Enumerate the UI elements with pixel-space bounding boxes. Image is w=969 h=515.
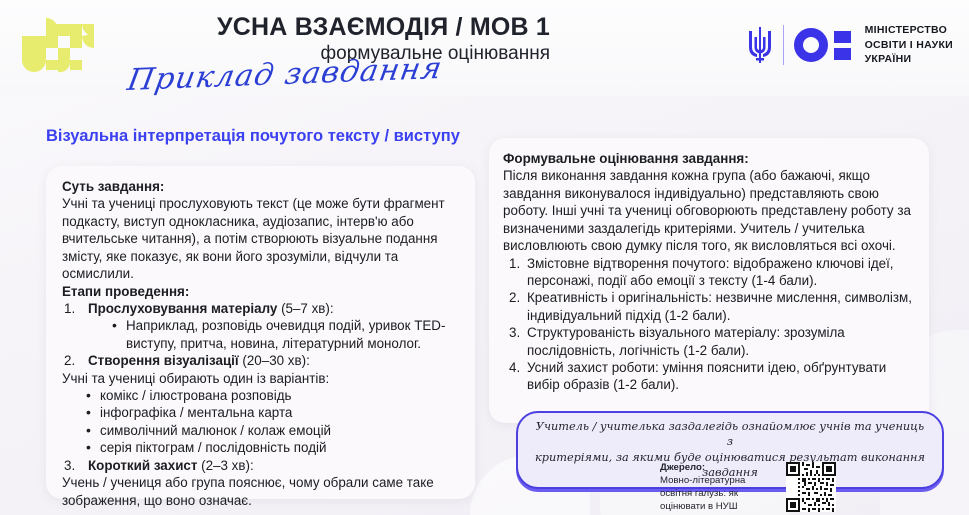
task-description-text: Суть завдання: Учні та учениці прослухов… [62, 178, 459, 509]
slide-header: УСНА ВЗАЄМОДІЯ / МОВ 1 формувальне оціню… [0, 0, 969, 96]
mon-ring-shape [794, 28, 828, 62]
ministry-line-3: УКРАЇНИ [865, 53, 912, 65]
callout-line-1: Учитель / учителька заздалегідь ознайомл… [536, 420, 924, 448]
stage-2-duration: (20–30 хв): [239, 353, 310, 368]
assessment-body: Після виконання завдання кожна група (аб… [503, 167, 915, 254]
essence-body: Учні та учениці прослуховують текст (це … [62, 195, 459, 282]
essence-heading: Суть завдання: [62, 178, 459, 195]
source-label: Джерело: [660, 462, 770, 475]
criteria-2-text: Креативність і оригінальність: незвичне … [527, 290, 912, 322]
slide-root: УСНА ВЗАЄМОДІЯ / МОВ 1 формувальне оціню… [0, 0, 969, 515]
criteria-item-4: 4. Усний захист роботи: уміння пояснити … [503, 359, 915, 394]
stage-2-intro: Учні та учениці обирають один із варіант… [62, 370, 459, 387]
list-item: Наприклад, розповідь очевидця подій, ури… [88, 317, 459, 352]
stage-1-marker: 1. [64, 300, 84, 317]
source-line-2: освітня галузь: як [660, 488, 738, 499]
list-item: інфографіка / ментальна карта [62, 404, 459, 421]
list-item: символічний малюнок / колаж емоцій [62, 422, 459, 439]
stage-3-duration: (2–3 хв): [197, 458, 253, 473]
stages-list: 1. Прослуховування матеріалу (5–7 хв): Н… [62, 300, 459, 370]
trident-icon [747, 25, 773, 65]
ministry-line-1: МІНІСТЕРСТВО [865, 24, 947, 36]
criteria-1-marker: 1. [509, 255, 520, 272]
criteria-item-1: 1. Змістовне відтворення почутого: відоб… [503, 255, 915, 290]
logo-divider [783, 25, 784, 65]
stage-3-body: Учень / учениця або група пояснює, чому … [62, 474, 459, 509]
ministry-logo: МІНІСТЕРСТВО ОСВІТИ І НАУКИ УКРАЇНИ [747, 16, 953, 74]
criteria-item-2: 2. Креативність і оригінальність: незвич… [503, 289, 915, 324]
assessment-card: Формувальне оцінювання завдання: Після в… [489, 138, 929, 423]
stage-1-duration: (5–7 хв): [277, 301, 333, 316]
list-item: комікс / ілюстрована розповідь [62, 387, 459, 404]
criteria-2-marker: 2. [509, 289, 520, 306]
qr-code[interactable] [786, 462, 836, 512]
dnipro-edu-logo [16, 16, 108, 74]
source-block: Джерело: Мовно-літературна освітня галуз… [660, 462, 836, 513]
stage-3-title: Короткий захист [88, 458, 197, 473]
ministry-line-2: ОСВІТИ І НАУКИ [865, 39, 953, 51]
task-description-card: Суть завдання: Учні та учениці прослухов… [46, 166, 475, 499]
stage-item-1: 1. Прослуховування матеріалу (5–7 хв): Н… [62, 300, 459, 352]
assessment-text: Формувальне оцінювання завдання: Після в… [503, 150, 915, 394]
section-title: Візуальна інтерпретація почутого тексту … [46, 127, 460, 146]
stage-2-options-list: комікс / ілюстрована розповідь інфографі… [62, 387, 459, 457]
criteria-4-text: Усний захист роботи: уміння пояснити іде… [527, 360, 886, 392]
source-text: Джерело: Мовно-літературна освітня галуз… [660, 462, 770, 513]
stage-item-2: 2. Створення візуалізації (20–30 хв): [62, 352, 459, 369]
criteria-1-text: Змістовне відтворення почутого: відображ… [527, 256, 894, 288]
assessment-heading: Формувальне оцінювання завдання: [503, 150, 915, 167]
source-line-3: оцінювати в НУШ [660, 501, 738, 512]
criteria-item-3: 3. Структурованість візуального матеріал… [503, 324, 915, 359]
stage-1-title: Прослуховування матеріалу [88, 301, 277, 316]
mon-emblem-icon [794, 28, 851, 62]
criteria-list: 1. Змістовне відтворення почутого: відоб… [503, 255, 915, 394]
stage-3-list: 3. Короткий захист (2–3 хв): [62, 457, 459, 474]
criteria-3-marker: 3. [509, 324, 520, 341]
stage-3-marker: 3. [64, 457, 84, 474]
criteria-3-text: Структурованість візуального матеріалу: … [527, 325, 845, 357]
page-title: УСНА ВЗАЄМОДІЯ / МОВ 1 [120, 14, 550, 42]
stage-2-title: Створення візуалізації [88, 353, 239, 368]
stage-1-examples: Наприклад, розповідь очевидця подій, ури… [88, 317, 459, 352]
criteria-4-marker: 4. [509, 359, 520, 376]
ministry-label: МІНІСТЕРСТВО ОСВІТИ І НАУКИ УКРАЇНИ [865, 23, 953, 68]
stages-heading: Етапи проведення: [62, 283, 459, 300]
list-item: серія піктограм / послідовність подій [62, 439, 459, 456]
stage-2-marker: 2. [64, 352, 84, 369]
mon-bars-shape [834, 31, 851, 60]
source-line-1: Мовно-літературна [660, 475, 745, 486]
stage-item-3: 3. Короткий захист (2–3 хв): [62, 457, 459, 474]
